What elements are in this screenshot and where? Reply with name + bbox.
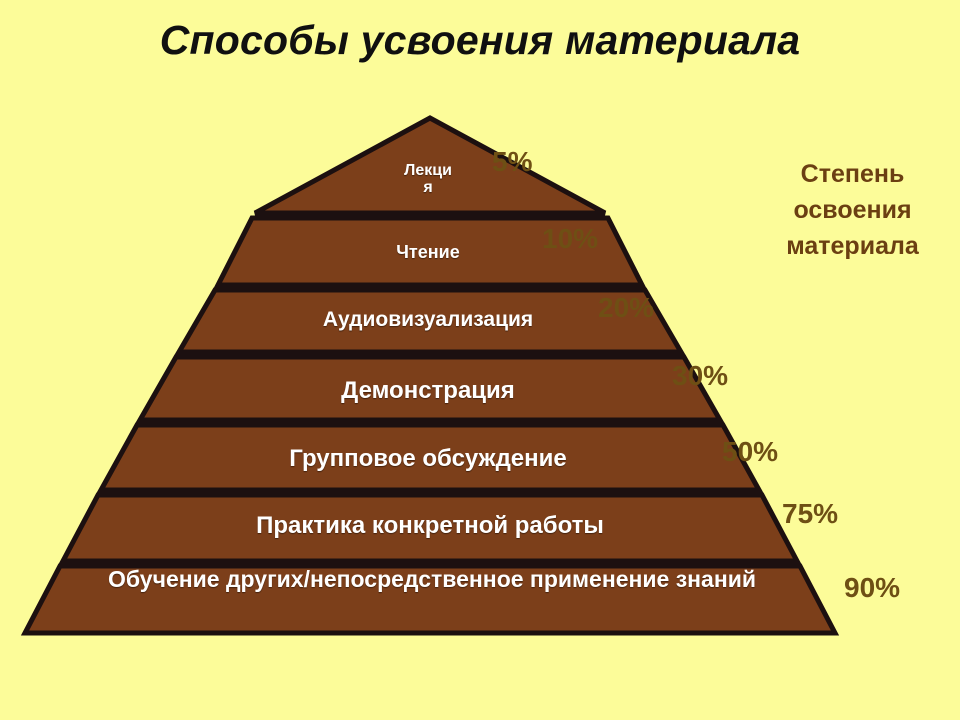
percent-label-75: 75% [782, 499, 838, 529]
side-caption-line1: Степень [760, 156, 945, 192]
pyramid-level-6-shape[interactable] [63, 495, 797, 561]
pyramid-level-4-shape[interactable] [140, 357, 720, 420]
percent-label-30: 30% [672, 361, 728, 391]
side-caption-line2: освоения [760, 192, 945, 228]
percent-label-10: 10% [542, 224, 598, 254]
pyramid-diagram [0, 0, 960, 720]
percent-label-90: 90% [844, 573, 900, 603]
side-caption-line3: материала [760, 228, 945, 264]
pyramid-level-5-shape[interactable] [101, 425, 759, 490]
pyramid-level-7-shape[interactable] [25, 566, 835, 633]
slide-canvas: Способы усвоения материала Лекци я Чтени… [0, 0, 960, 720]
percent-label-50: 50% [722, 437, 778, 467]
side-caption: Степень освоения материала [760, 156, 945, 264]
percent-label-20: 20% [598, 293, 654, 323]
percent-label-5: 5% [492, 147, 532, 177]
pyramid-level-1-shape[interactable] [255, 118, 605, 213]
